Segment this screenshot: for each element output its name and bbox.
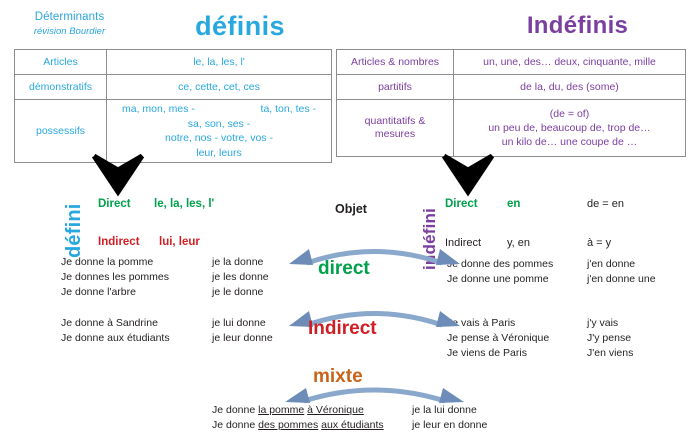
cell-articles-value: le, la, les, l'	[107, 50, 332, 75]
example-sentence: Je donne l'arbre	[61, 285, 169, 300]
quantitatifs-label-line1: quantitatifs &	[340, 115, 450, 128]
defini-indirect-value: lui, leur	[159, 236, 200, 248]
heading-indefinis: Indéfinis	[470, 10, 685, 42]
mixte-indirect-object: aux étudiants	[321, 419, 383, 431]
possessifs-line2: sa, son, ses -	[188, 117, 250, 132]
possessifs-line1a: ma, mon, mes -	[122, 102, 195, 117]
indefini-direct-row: Direct en de = en	[445, 198, 695, 217]
example-sentence: Je donne aux étudiants	[61, 331, 170, 346]
heading-definis: définis	[140, 10, 340, 42]
defini-direct-examples-sentences: Je donne la pomme Je donnes les pommes J…	[61, 255, 169, 300]
example-pronoun: j'y vais	[587, 316, 633, 331]
defini-direct-examples-pronouns: je la donne je les donne je le donne	[212, 255, 269, 300]
table-row: Articles le, la, les, l'	[15, 50, 332, 75]
example-sentence: Je donne une pomme	[447, 272, 553, 287]
indefini-direct-value: en	[507, 198, 520, 210]
defini-indirect-examples-sentences: Je donne à Sandrine Je donne aux étudian…	[61, 316, 170, 346]
cell-articles-label: Articles	[15, 50, 107, 75]
table-definis: Articles le, la, les, l' démonstratifs c…	[14, 49, 332, 163]
indefini-indirect-row: Indirect y, en à = y	[445, 237, 695, 256]
example-pronoun: je lui donne	[212, 316, 273, 331]
chevron-down-icon	[90, 152, 146, 202]
determinants-title: Déterminants	[12, 10, 127, 24]
mixte-sentence: Je donne des pommes aux étudiants	[212, 418, 384, 433]
table-row: Articles & nombres un, une, des… deux, c…	[337, 50, 686, 75]
panel-indefini: Direct en de = en Indirect y, en à = y	[445, 198, 695, 256]
example-sentence: Je vais à Paris	[447, 316, 549, 331]
quantitatifs-line1: (de = of)	[457, 107, 682, 121]
determinants-subtitle: révision Bourdier	[12, 25, 127, 38]
possessifs-line1b: ta, ton, tes -	[261, 102, 316, 117]
defini-direct-label: Direct	[98, 198, 131, 210]
example-sentence: Je donnes les pommes	[61, 270, 169, 285]
example-pronoun: je leur donne	[212, 331, 273, 346]
indefini-indirect-value: y, en	[507, 237, 530, 249]
defini-indirect-label: Indirect	[98, 236, 140, 248]
mixte-prefix: Je donne	[212, 419, 258, 431]
example-sentence: Je viens de Paris	[447, 346, 549, 361]
example-pronoun: J'en viens	[587, 346, 633, 361]
mixte-sentence: Je donne la pomme à Véronique	[212, 403, 364, 418]
cell-articles-nombres-label: Articles & nombres	[337, 50, 454, 75]
defini-direct-value: le, la, les, l'	[154, 198, 214, 210]
example-pronoun: je les donne	[212, 270, 269, 285]
cell-demonstratifs-label: démonstratifs	[15, 75, 107, 100]
chevron-down-icon	[440, 152, 496, 202]
possessifs-line3: notre, nos - votre, vos -	[165, 131, 273, 146]
mixte-prefix: Je donne	[212, 404, 258, 416]
indefini-direct-rule: de = en	[587, 198, 624, 210]
mixte-pronoun: je leur en donne	[412, 418, 487, 433]
table-indefinis: Articles & nombres un, une, des… deux, c…	[336, 49, 686, 157]
table-row: partitifs de la, du, des (some)	[337, 75, 686, 100]
indefini-direct-examples-sentences: Je donne des pommes Je donne une pomme	[447, 257, 553, 287]
quantitatifs-line2: un peu de, beaucoup de, trop de…	[457, 121, 682, 135]
example-pronoun: je la donne	[212, 255, 269, 270]
example-sentence: Je donne la pomme	[61, 255, 169, 270]
indefini-indirect-examples-sentences: Je vais à Paris Je pense à Véronique Je …	[447, 316, 549, 361]
table-row: possessifs ma, mon, mes - ta, ton, tes -…	[15, 100, 332, 163]
defini-indirect-examples-pronouns: je lui donne je leur donne	[212, 316, 273, 346]
quantitatifs-line3: un kilo de… une coupe de …	[457, 135, 682, 149]
example-pronoun: j'en donne une	[587, 272, 656, 287]
label-indirect: Indirect	[308, 318, 377, 340]
cell-quantitatifs-label: quantitatifs & mesures	[337, 100, 454, 157]
defini-direct-row: Direct le, la, les, l'	[58, 198, 348, 217]
indefini-direct-label: Direct	[445, 198, 478, 210]
example-pronoun: j'en donne	[587, 257, 656, 272]
table-row: démonstratifs ce, cette, cet, ces	[15, 75, 332, 100]
cell-partitifs-value: de la, du, des (some)	[454, 75, 686, 100]
cell-articles-nombres-value: un, une, des… deux, cinquante, mille	[454, 50, 686, 75]
grammar-chart-page: Déterminants révision Bourdier définis I…	[0, 0, 700, 446]
cell-demonstratifs-value: ce, cette, cet, ces	[107, 75, 332, 100]
example-sentence: Je donne des pommes	[447, 257, 553, 272]
indefini-direct-examples-pronouns: j'en donne j'en donne une	[587, 257, 656, 287]
example-pronoun: je le donne	[212, 285, 269, 300]
label-direct: direct	[318, 258, 370, 280]
example-sentence: Je donne à Sandrine	[61, 316, 170, 331]
determinants-heading-block: Déterminants révision Bourdier	[12, 10, 127, 38]
example-sentence: Je pense à Véronique	[447, 331, 549, 346]
possessifs-line4: leur, leurs	[196, 146, 242, 161]
example-pronoun: J'y pense	[587, 331, 633, 346]
indefini-indirect-rule: à = y	[587, 237, 611, 249]
mixte-indirect-object: à Véronique	[307, 404, 364, 416]
cell-quantitatifs-value: (de = of) un peu de, beaucoup de, trop d…	[454, 100, 686, 157]
table-row: quantitatifs & mesures (de = of) un peu …	[337, 100, 686, 157]
mixte-pronoun: je la lui donne	[412, 403, 477, 418]
indefini-indirect-examples-pronouns: j'y vais J'y pense J'en viens	[587, 316, 633, 361]
mixte-direct-object: la pomme	[258, 404, 304, 416]
cell-partitifs-label: partitifs	[337, 75, 454, 100]
mixte-direct-object: des pommes	[258, 419, 318, 431]
double-arrow-direct-icon	[287, 243, 462, 272]
quantitatifs-label-line2: mesures	[340, 128, 450, 141]
